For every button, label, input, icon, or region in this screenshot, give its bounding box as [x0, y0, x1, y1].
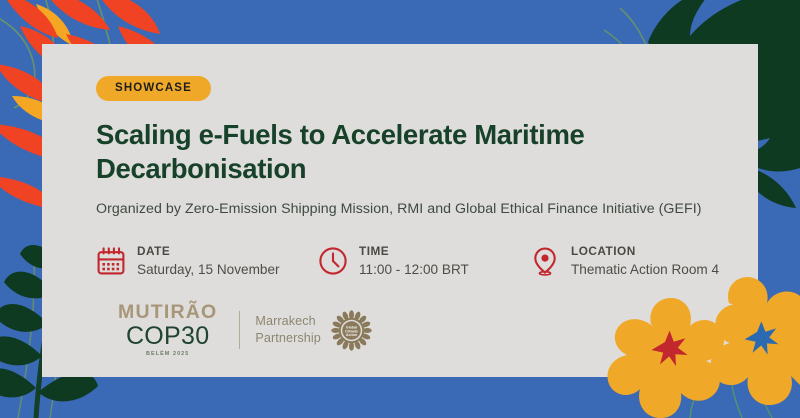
meta-text-date: DATE Saturday, 15 November	[137, 244, 280, 278]
marrakech-partnership-logo: Marrakech Partnership	[255, 310, 372, 351]
logo-divider	[239, 311, 240, 349]
meta-item-location: LOCATION Thematic Action Room 4	[530, 244, 719, 278]
global-climate-action-emblem: Global Climate Action	[331, 310, 372, 351]
meta-value-time: 11:00 - 12:00 BRT	[359, 261, 469, 278]
cop30-place-text: BELÉM 2025	[118, 351, 217, 357]
cop30-logo: MUTIRÃO COP30 BELÉM 2025	[118, 303, 217, 357]
cop30-mutirao-text: MUTIRÃO	[118, 303, 217, 323]
meta-item-time: TIME 11:00 - 12:00 BRT	[318, 244, 530, 278]
meta-text-location: LOCATION Thematic Action Room 4	[571, 244, 719, 278]
clock-icon	[318, 246, 348, 276]
gca-line-3: Action	[346, 333, 357, 337]
event-announcement-graphic: SHOWCASE Scaling e-Fuels to Accelerate M…	[0, 0, 800, 418]
card-content: SHOWCASE Scaling e-Fuels to Accelerate M…	[96, 76, 744, 278]
meta-item-date: DATE Saturday, 15 November	[96, 244, 318, 278]
logo-strip: MUTIRÃO COP30 BELÉM 2025 Marrakech Partn…	[118, 303, 372, 357]
cop30-name-text: COP30	[118, 324, 217, 350]
showcase-badge: SHOWCASE	[96, 76, 211, 101]
map-pin-icon	[530, 246, 560, 276]
organizer-line: Organized by Zero-Emission Shipping Miss…	[96, 200, 744, 219]
marrakech-line-2: Partnership	[255, 330, 321, 347]
marrakech-partnership-text: Marrakech Partnership	[255, 313, 321, 346]
meta-label-time: TIME	[359, 244, 469, 259]
meta-text-time: TIME 11:00 - 12:00 BRT	[359, 244, 469, 278]
meta-value-location: Thematic Action Room 4	[571, 261, 719, 278]
page-title: Scaling e-Fuels to Accelerate Maritime D…	[96, 118, 706, 186]
meta-label-date: DATE	[137, 244, 280, 259]
meta-label-location: LOCATION	[571, 244, 719, 259]
marrakech-line-1: Marrakech	[255, 313, 321, 330]
calendar-icon	[96, 246, 126, 276]
event-meta-row: DATE Saturday, 15 November TIME 11:00 - …	[96, 244, 744, 278]
meta-value-date: Saturday, 15 November	[137, 261, 280, 278]
